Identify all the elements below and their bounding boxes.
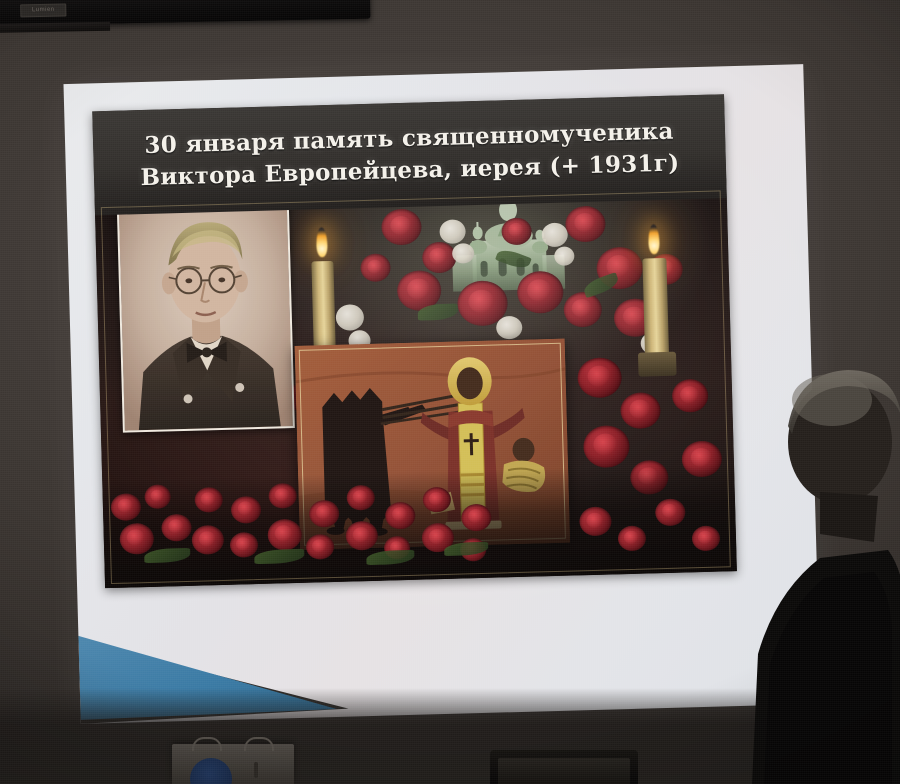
carnation [346, 485, 375, 511]
rose [620, 392, 661, 429]
carnation [191, 525, 224, 555]
rose [381, 209, 422, 246]
screen-brand-label: Lumien [20, 4, 66, 18]
candle-wax-body [642, 258, 669, 355]
room-scene: Lumien [0, 0, 900, 784]
leaf [254, 549, 304, 564]
carnation [618, 526, 647, 552]
leaf [144, 548, 190, 563]
candle-right [633, 224, 677, 385]
leaf [366, 550, 414, 565]
laptop-screen [498, 758, 630, 784]
carnation [579, 506, 612, 536]
candle-flame [316, 227, 328, 257]
projected-slide: 30 января память священномученика Виктор… [63, 64, 820, 724]
carnation [268, 483, 297, 509]
carnation [345, 521, 378, 551]
carnation [385, 502, 416, 530]
white-flower [496, 316, 523, 340]
carnation [144, 484, 171, 509]
bag-handle [244, 737, 274, 751]
carnation [461, 504, 492, 532]
slide-background: 30 января память священномученика Виктор… [63, 64, 820, 724]
rose [517, 271, 564, 314]
slide-title-band: 30 января память священномученика Виктор… [92, 94, 727, 215]
rose [360, 253, 391, 282]
rose [565, 206, 606, 243]
carnation [231, 496, 262, 524]
collage-scene [94, 178, 736, 588]
carnation [309, 500, 340, 528]
carnation [230, 532, 259, 558]
rose [563, 292, 602, 328]
carnation [119, 523, 154, 555]
candle-holder [638, 352, 677, 377]
bag-logo [190, 758, 232, 784]
candle-wax-body [311, 261, 335, 354]
laptop-on-desk [490, 750, 638, 784]
carnation [194, 487, 223, 513]
screen-roller-edge [0, 22, 110, 33]
carnation [306, 534, 335, 560]
carnation [655, 498, 686, 526]
carnation-flower-bed [102, 463, 737, 588]
carnation [267, 519, 302, 551]
paper-bag-on-desk [172, 744, 294, 784]
candle-flame [648, 224, 660, 254]
carnation [111, 493, 142, 521]
carnation [423, 487, 452, 513]
bag-fold [254, 762, 258, 778]
carnation [692, 526, 721, 552]
bag-handle [192, 737, 222, 751]
rose [672, 379, 709, 413]
rose [577, 357, 622, 398]
person-standing-right [724, 364, 900, 784]
carnation [161, 514, 192, 542]
memorial-photo-collage: 30 января память священномученика Виктор… [92, 94, 737, 588]
martyr-portrait-photo [117, 198, 295, 433]
rose [583, 425, 630, 468]
